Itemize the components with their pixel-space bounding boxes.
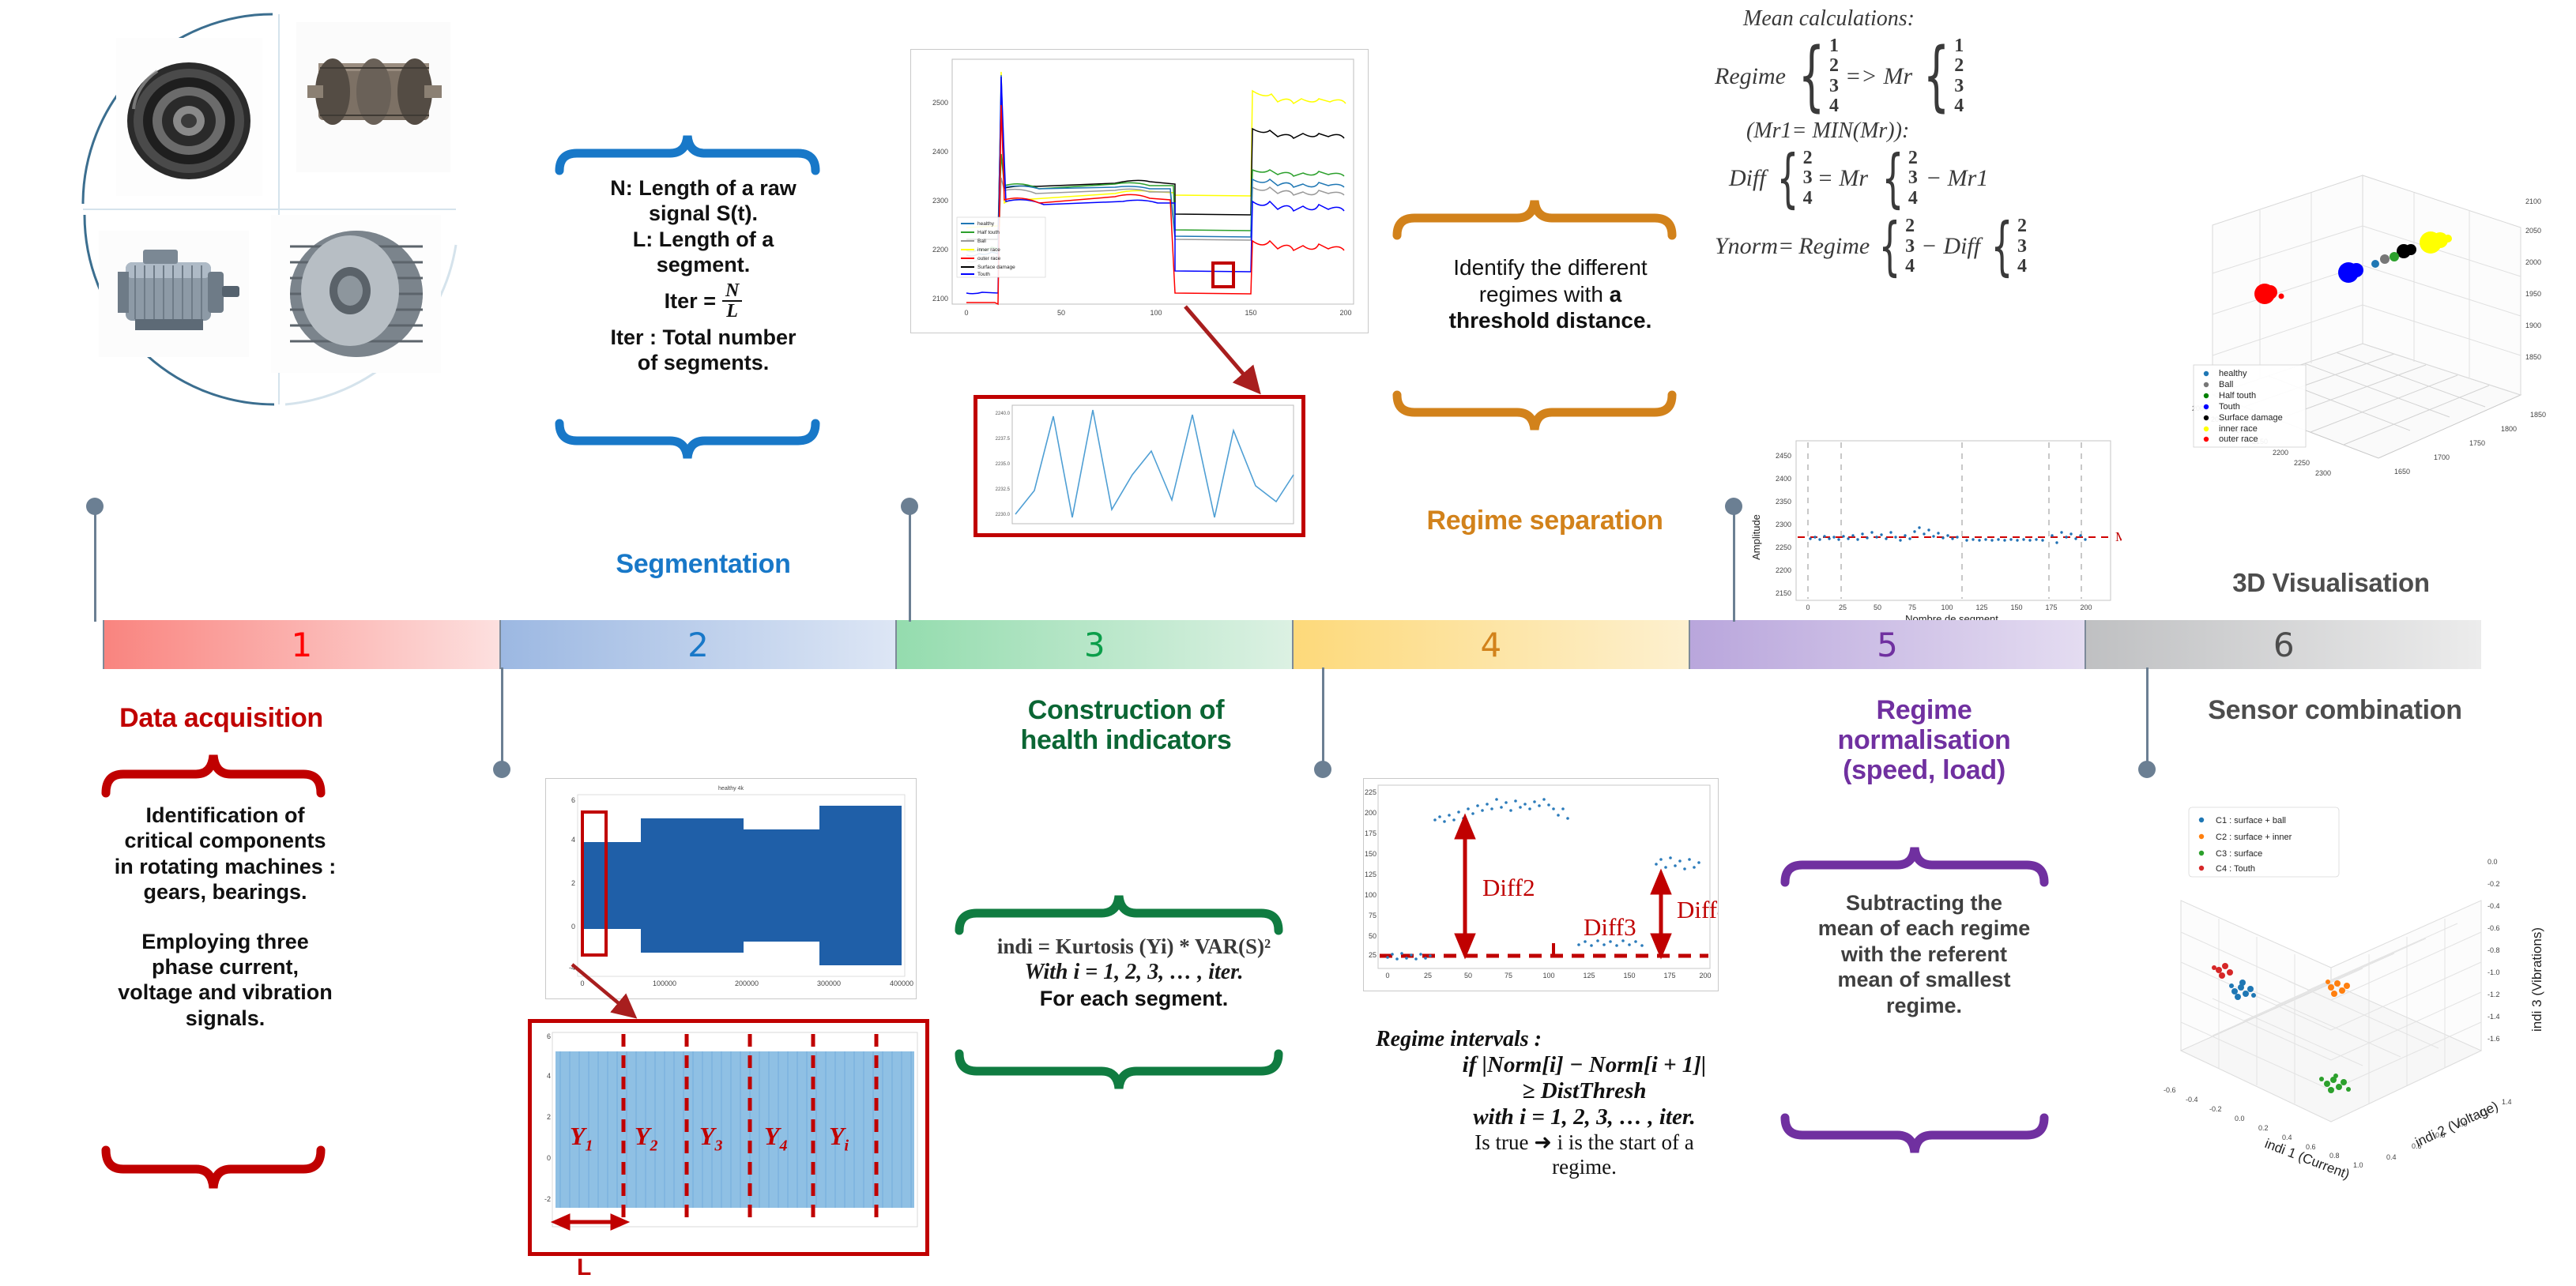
- indicator-formula-line3: For each segment.: [948, 986, 1320, 1011]
- svg-text:1850: 1850: [2525, 353, 2541, 361]
- regime-intervals-line3: with i = 1, 2, 3, … , iter.: [1371, 1104, 1798, 1130]
- svg-text:2000: 2000: [2525, 258, 2541, 266]
- segment-y-letter-4: Y: [764, 1122, 780, 1150]
- svg-text:0.4: 0.4: [2282, 1134, 2292, 1141]
- segment-length-marker: L: [577, 1254, 591, 1281]
- diff-items-stack: 2 3 4: [1803, 149, 1813, 209]
- svg-text:2150: 2150: [1776, 589, 1791, 597]
- svg-text:175: 175: [1365, 829, 1377, 837]
- pin-stem-3: [909, 510, 911, 622]
- diff-row: Diff { 2 3 4 = Mr { 2 3 4 − Mr1: [1729, 149, 2205, 209]
- svg-text:Ball: Ball: [2219, 380, 2233, 389]
- mr-item-4: 4: [1954, 96, 1964, 116]
- left-brace-diff-mr: {: [1881, 153, 1904, 204]
- svg-text:75: 75: [1908, 604, 1916, 611]
- svg-text:1950: 1950: [2525, 290, 2541, 298]
- diagram-canvas: N: Length of a raw signal S(t). L: Lengt…: [0, 0, 2576, 1286]
- svg-text:2230.0: 2230.0: [996, 513, 1011, 517]
- svg-text:1800: 1800: [2501, 425, 2517, 433]
- left-brace-mr: {: [1923, 46, 1950, 107]
- segment-label-yi: Yi: [829, 1122, 849, 1155]
- diff-mr-items-stack: 2 3 4: [1908, 149, 1918, 209]
- norm-line-4: mean of smallest: [1774, 967, 2074, 992]
- ynorm-row: Ynorm= Regime { 2 3 4 − Diff { 2 3 4: [1715, 216, 2205, 276]
- acq-line-8: voltage and vibration: [95, 980, 356, 1005]
- single-gear-photo: [271, 215, 441, 373]
- svg-text:50: 50: [1057, 309, 1065, 317]
- svg-text:125: 125: [1365, 870, 1377, 878]
- ynorm-regime-word: Regime: [1798, 233, 1870, 260]
- segment-y-letter-2: Y: [635, 1122, 650, 1150]
- ynorm-diff-item-1: 2: [2017, 216, 2027, 236]
- svg-text:C3 : surface: C3 : surface: [2216, 849, 2262, 859]
- svg-text:125: 125: [1583, 972, 1595, 980]
- indi3-axis-label: indi 3 (Vibrations): [2529, 927, 2544, 1032]
- segment-y-letter-1: Y: [570, 1122, 586, 1150]
- svg-text:200000: 200000: [735, 980, 759, 987]
- svg-text:0: 0: [1385, 972, 1389, 980]
- norm-line-5: regime.: [1774, 993, 2074, 1018]
- iter-numerator: N: [722, 281, 742, 302]
- regime-indicator-chart: 225200175 150125100 755025 02550 7510012…: [1363, 778, 1719, 991]
- svg-text:-0.6: -0.6: [2487, 924, 2500, 932]
- segment-y-letter-5: Y: [829, 1122, 845, 1150]
- indicator-formula-line1: indi = Kurtosis (Yi) * VAR(S)²: [948, 934, 1320, 959]
- timeline-number-2: 2: [687, 626, 709, 664]
- pin-head-2: [493, 761, 510, 778]
- data-acquisition-brace-box: Identification of critical components in…: [95, 743, 356, 1216]
- regime-items-stack: 1 2 3 4: [1829, 36, 1839, 117]
- pin-head-1: [86, 498, 104, 515]
- zoomed-signal-panel: 2240.02237.5 2235.02232.5 2230.0: [974, 395, 1305, 537]
- svg-text:inner race: inner race: [2219, 424, 2258, 434]
- svg-text:Surface damage: Surface damage: [977, 265, 1015, 270]
- norm-line-3: with the referent: [1774, 942, 2074, 967]
- regime-intervals-line1: if |Norm[i] − Norm[i + 1]|: [1371, 1052, 1798, 1078]
- segment-y-sub-4: 4: [780, 1137, 788, 1154]
- mean-calculations-block: Mean calculations: Regime { 1 2 3 4 => M…: [1715, 6, 2205, 449]
- svg-text:4: 4: [571, 836, 575, 844]
- ynorm-word: Ynorm=: [1715, 233, 1794, 260]
- svg-text:200: 200: [1699, 972, 1711, 980]
- svg-text:2500: 2500: [932, 99, 948, 107]
- mr1-annotation: Mr1: [2115, 529, 2122, 544]
- svg-text:2400: 2400: [1776, 475, 1791, 483]
- segment-label-y2: Y2: [635, 1122, 658, 1155]
- seg-line-6: of segments.: [545, 350, 861, 375]
- regime-intervals-line5: regime.: [1371, 1155, 1798, 1179]
- diff-mr-item-3: 4: [1908, 189, 1918, 209]
- regime-item-4: 4: [1829, 96, 1839, 116]
- svg-text:2237.5: 2237.5: [996, 437, 1011, 442]
- svg-text:2100: 2100: [932, 295, 948, 303]
- svg-text:0.0: 0.0: [2235, 1115, 2245, 1122]
- step-4-title: Regime separation: [1359, 506, 1731, 536]
- pin-stem-5: [1733, 510, 1735, 622]
- diff-equals-mr: = Mr: [1817, 165, 1868, 192]
- svg-text:200: 200: [1339, 309, 1351, 317]
- timeline-number-1: 1: [291, 626, 312, 664]
- svg-text:6: 6: [547, 1032, 551, 1040]
- svg-text:outer race: outer race: [2219, 434, 2258, 444]
- timeline-number-3: 3: [1084, 626, 1105, 664]
- diff-item-3: 4: [1803, 189, 1813, 209]
- ynorm-diff-word: Diff: [1943, 233, 1980, 260]
- mr-items-stack: 1 2 3 4: [1954, 36, 1964, 117]
- step-3-title: Construction of health indicators: [956, 695, 1296, 755]
- svg-text:1.0: 1.0: [2353, 1161, 2363, 1169]
- regime-item-3: 3: [1829, 77, 1839, 96]
- mr-item-1: 1: [1954, 36, 1964, 56]
- ynorm-regime-item-2: 3: [1905, 237, 1915, 257]
- svg-text:-0.4: -0.4: [2186, 1096, 2198, 1104]
- step-5-title-line1: Regime: [1770, 695, 2078, 725]
- svg-text:300000: 300000: [817, 980, 841, 987]
- svg-text:-2: -2: [544, 1195, 551, 1203]
- timeline-segment-2[interactable]: 2: [499, 620, 896, 669]
- seg-line-2: signal S(t).: [545, 201, 861, 226]
- mr-item-3: 3: [1954, 77, 1964, 96]
- pin-stem-2: [501, 667, 503, 770]
- svg-text:50: 50: [1369, 932, 1377, 940]
- svg-text:2300: 2300: [2315, 469, 2331, 477]
- segmented-signal-panel: 642 0-2 Y1 Y2: [528, 1019, 929, 1256]
- step-6-bottom-title: Sensor combination: [2149, 695, 2521, 725]
- timeline-segment-1[interactable]: 1: [103, 620, 499, 669]
- seg-line-4: segment.: [545, 252, 861, 277]
- regime-sep-line-3: threshold distance.: [1384, 307, 1716, 334]
- svg-text:150: 150: [2010, 604, 2022, 611]
- regime-to-mr-row: Regime { 1 2 3 4 => Mr { 1 2 3 4: [1715, 36, 2205, 117]
- timeline-segment-4[interactable]: 4: [1292, 620, 1689, 669]
- regime-sep-line-2a: regimes with: [1479, 282, 1610, 306]
- health-indicator-brace-box: indi = Kurtosis (Yi) * VAR(S)² With i = …: [948, 893, 1320, 1098]
- diff4-label: Diff4: [1677, 896, 1718, 923]
- svg-text:-1.6: -1.6: [2487, 1035, 2500, 1043]
- step-5-title-line2: normalisation: [1770, 725, 2078, 755]
- svg-text:2300: 2300: [1776, 521, 1791, 528]
- segment-y-sub-2: 2: [650, 1137, 658, 1154]
- svg-text:150: 150: [1623, 972, 1635, 980]
- step-6-top-title: 3D Visualisation: [2157, 569, 2505, 598]
- svg-text:-1.4: -1.4: [2487, 1013, 2500, 1021]
- iter-denominator: L: [723, 302, 741, 321]
- timeline-number-4: 4: [1480, 626, 1501, 664]
- norm-line-1: Subtracting the: [1774, 890, 2074, 916]
- svg-text:2200: 2200: [932, 246, 948, 254]
- svg-text:100: 100: [1365, 891, 1377, 899]
- svg-text:Half touth: Half touth: [977, 230, 1000, 235]
- diff2-label: Diff2: [1482, 874, 1535, 901]
- svg-text:100: 100: [1941, 604, 1953, 611]
- left-brace-diff: {: [1776, 153, 1798, 204]
- seg-line-3: L: Length of a: [545, 227, 861, 252]
- svg-text:400000: 400000: [890, 980, 913, 987]
- diff-mr-item-1: 2: [1908, 149, 1918, 168]
- timeline-segment-5[interactable]: 5: [1689, 620, 2085, 669]
- step-3-title-line1: Construction of: [956, 695, 1296, 725]
- timeline-number-6: 6: [2273, 626, 2295, 664]
- svg-text:2050: 2050: [2525, 227, 2541, 235]
- svg-text:2235.0: 2235.0: [996, 462, 1011, 467]
- svg-text:2232.5: 2232.5: [996, 487, 1011, 492]
- svg-text:Amplitude: Amplitude: [1750, 514, 1762, 560]
- step-5-title-line3: (speed, load): [1770, 755, 2078, 785]
- regime-intervals-line4: Is true ➜ i is the start of a: [1371, 1130, 1798, 1155]
- seg-line-1: N: Length of a raw: [545, 175, 861, 201]
- svg-text:2400: 2400: [932, 148, 948, 156]
- ynorm-regime-item-3: 4: [1905, 257, 1915, 276]
- diff-item-1: 2: [1803, 149, 1813, 168]
- timeline-segment-6[interactable]: 6: [2085, 620, 2481, 669]
- step-3-title-line2: health indicators: [956, 725, 1296, 755]
- regime-intervals-block: Regime intervals : if |Norm[i] − Norm[i …: [1371, 1027, 1798, 1179]
- svg-text:25: 25: [1424, 972, 1432, 980]
- pin-head-5: [1725, 498, 1742, 515]
- pin-head-6: [2138, 761, 2156, 778]
- diff-item-2: 3: [1803, 168, 1813, 188]
- diff-word: Diff: [1729, 165, 1766, 192]
- timeline-number-5: 5: [1877, 626, 1898, 664]
- implies-arrow: =>: [1845, 63, 1877, 90]
- mean-calc-title: Mean calculations:: [1743, 6, 2205, 32]
- svg-text:-0.4: -0.4: [2487, 902, 2500, 910]
- svg-text:C4 : Touth: C4 : Touth: [2216, 864, 2255, 874]
- pin-head-3: [901, 498, 918, 515]
- pin-stem-4: [1322, 667, 1324, 770]
- segment-label-y3: Y3: [699, 1122, 723, 1155]
- svg-text:150: 150: [1365, 850, 1377, 858]
- mr-word: Mr: [1884, 63, 1913, 90]
- svg-text:Touth: Touth: [2219, 402, 2240, 412]
- svg-text:Surface damage: Surface damage: [2219, 413, 2283, 423]
- svg-text:100: 100: [1542, 972, 1554, 980]
- svg-text:2100: 2100: [2525, 197, 2541, 205]
- svg-text:0: 0: [964, 309, 968, 317]
- svg-text:-0.2: -0.2: [2209, 1105, 2222, 1113]
- ynorm-diff-item-3: 4: [2017, 257, 2027, 276]
- step-2-title: Segmentation: [545, 549, 861, 579]
- svg-text:C2 : surface + inner: C2 : surface + inner: [2216, 833, 2292, 842]
- svg-text:200: 200: [2080, 604, 2092, 611]
- svg-text:75: 75: [1505, 972, 1512, 980]
- svg-text:-0.8: -0.8: [2487, 946, 2500, 954]
- svg-text:175: 175: [2045, 604, 2057, 611]
- svg-text:2250: 2250: [1776, 543, 1791, 551]
- segmentation-brace-box: N: Length of a raw signal S(t). L: Lengt…: [545, 126, 861, 490]
- svg-text:Half touth: Half touth: [2219, 391, 2256, 400]
- svg-text:0.4: 0.4: [2386, 1153, 2397, 1161]
- svg-text:125: 125: [1975, 604, 1987, 611]
- iter-formula-lhs: Iter =: [665, 288, 716, 314]
- svg-text:0: 0: [571, 923, 575, 931]
- svg-text:225: 225: [1365, 788, 1377, 796]
- svg-text:25: 25: [1369, 951, 1377, 959]
- svg-text:-0.6: -0.6: [2164, 1086, 2176, 1094]
- svg-text:inner race: inner race: [977, 247, 1000, 253]
- indicator-formula-line2: With i = 1, 2, 3, … , iter.: [948, 959, 1320, 986]
- svg-text:1850: 1850: [2530, 411, 2546, 419]
- acq-line-1: Identification of: [95, 803, 356, 828]
- process-timeline: 1 2 3 4 5 6: [103, 620, 2481, 669]
- pin-head-4: [1314, 761, 1331, 778]
- acq-line-4: gears, bearings.: [95, 879, 356, 904]
- ynorm-regime-item-1: 2: [1905, 216, 1915, 236]
- svg-text:C1 : surface + ball: C1 : surface + ball: [2216, 816, 2286, 825]
- ynorm-diff-items-stack: 2 3 4: [2017, 216, 2027, 276]
- svg-text:25: 25: [1839, 604, 1847, 611]
- svg-text:4: 4: [547, 1072, 551, 1080]
- 3d-scatter-bottom: C1 : surface + ball C2 : surface + inner…: [2070, 790, 2560, 1264]
- segment-label-y4: Y4: [764, 1122, 788, 1155]
- diff-minus-mr1: − Mr1: [1926, 165, 1988, 192]
- multi-signal-chart: 25002400 23002200 2100 050 100150 200: [910, 49, 1369, 333]
- 3d-scatter-top: 20002050 21002150 22002250 2300 16501700…: [2165, 158, 2560, 490]
- regime-word: Regime: [1715, 63, 1786, 90]
- svg-text:2350: 2350: [1776, 498, 1791, 506]
- segment-label-y1: Y1: [570, 1122, 593, 1155]
- component-photos-panel: [75, 8, 462, 411]
- acq-line-6: Employing three: [95, 929, 356, 954]
- svg-text:175: 175: [1663, 972, 1675, 980]
- regime-separation-brace-box: Identify the different regimes with a th…: [1384, 197, 1716, 458]
- svg-text:healthy 4k: healthy 4k: [718, 786, 744, 792]
- normalised-regime-chart: Amplitude 24502400 23502300 22502200 215…: [1742, 436, 2122, 626]
- diff3-label: Diff3: [1584, 913, 1636, 941]
- svg-text:2200: 2200: [1776, 566, 1791, 574]
- svg-text:50: 50: [1874, 604, 1881, 611]
- svg-text:0: 0: [1806, 604, 1810, 611]
- svg-text:75: 75: [1369, 912, 1377, 919]
- regime-intervals-line2: ≥ DistThresh: [1371, 1078, 1798, 1104]
- svg-text:50: 50: [1464, 972, 1472, 980]
- regime-intervals-title: Regime intervals :: [1371, 1027, 1798, 1052]
- svg-text:-0.2: -0.2: [2487, 880, 2500, 888]
- left-brace-regime: {: [1798, 46, 1825, 107]
- svg-text:0.6: 0.6: [2306, 1143, 2316, 1151]
- raw-signal-selection-box: [581, 810, 608, 957]
- svg-text:0.2: 0.2: [2258, 1124, 2269, 1132]
- step-1-title: Data acquisition: [71, 703, 371, 733]
- timeline-segment-3[interactable]: 3: [895, 620, 1292, 669]
- acq-line-7: phase current,: [95, 954, 356, 980]
- left-brace-ynorm-regime: {: [1879, 221, 1901, 272]
- ynorm-minus: −: [1921, 233, 1937, 260]
- pin-stem-6: [2146, 667, 2149, 770]
- bearing-photo: [116, 38, 262, 196]
- svg-text:1650: 1650: [2394, 468, 2410, 476]
- segment-y-sub-3: 3: [715, 1137, 723, 1154]
- electric-motor-photo: [99, 231, 249, 357]
- norm-line-2: mean of each regime: [1774, 916, 2074, 941]
- svg-text:Touth: Touth: [977, 272, 990, 277]
- ynorm-diff-item-2: 3: [2017, 237, 2027, 257]
- step-5-title: Regime normalisation (speed, load): [1770, 695, 2078, 785]
- seg-line-5: Iter : Total number: [545, 325, 861, 350]
- svg-text:healthy: healthy: [2219, 369, 2247, 378]
- svg-text:1750: 1750: [2469, 439, 2485, 447]
- zoom-callout-arrow: [1177, 300, 1288, 403]
- regime-item-1: 1: [1829, 36, 1839, 56]
- diff-mr-item-2: 3: [1908, 168, 1918, 188]
- svg-text:outer race: outer race: [977, 256, 1001, 261]
- segment-y-letter-3: Y: [699, 1122, 715, 1150]
- svg-text:0.0: 0.0: [2487, 858, 2498, 866]
- svg-text:1900: 1900: [2525, 321, 2541, 329]
- svg-text:6: 6: [571, 796, 575, 804]
- svg-text:healthy: healthy: [977, 221, 995, 227]
- regime-sep-line-1: Identify the different: [1384, 254, 1716, 281]
- svg-text:100: 100: [1150, 309, 1162, 317]
- svg-text:1.4: 1.4: [2502, 1098, 2512, 1106]
- svg-text:1700: 1700: [2434, 453, 2450, 461]
- ynorm-regime-items-stack: 2 3 4: [1905, 216, 1915, 276]
- svg-text:0: 0: [547, 1154, 551, 1162]
- regime-normalisation-brace-box: Subtracting the mean of each regime with…: [1774, 841, 2074, 1173]
- pin-stem-1: [94, 510, 96, 622]
- svg-text:2240.0: 2240.0: [996, 412, 1011, 416]
- segment-y-sub-5: i: [845, 1137, 849, 1154]
- left-brace-ynorm-diff: {: [1991, 221, 2013, 272]
- svg-text:2: 2: [571, 879, 575, 887]
- svg-text:2250: 2250: [2294, 459, 2310, 467]
- gear-train-photo: [296, 22, 450, 172]
- regime-sep-line-2b: a: [1610, 282, 1622, 306]
- segment-y-sub-1: 1: [586, 1137, 593, 1154]
- acq-line-3: in rotating machines :: [95, 854, 356, 879]
- svg-text:2300: 2300: [932, 197, 948, 205]
- acq-line-9: signals.: [95, 1006, 356, 1031]
- svg-text:-1.0: -1.0: [2487, 968, 2500, 976]
- svg-text:2450: 2450: [1776, 452, 1791, 460]
- svg-text:2: 2: [547, 1113, 551, 1121]
- svg-text:2200: 2200: [2273, 449, 2288, 457]
- acq-line-2: critical components: [95, 828, 356, 853]
- svg-text:-1.2: -1.2: [2487, 991, 2500, 998]
- mr-item-2: 2: [1954, 56, 1964, 76]
- svg-text:0.8: 0.8: [2329, 1152, 2340, 1160]
- svg-text:Ball: Ball: [977, 239, 986, 244]
- regime-item-2: 2: [1829, 56, 1839, 76]
- svg-text:200: 200: [1365, 809, 1377, 817]
- mr1-min-line: (Mr1= MIN(Mr)):: [1746, 118, 2205, 144]
